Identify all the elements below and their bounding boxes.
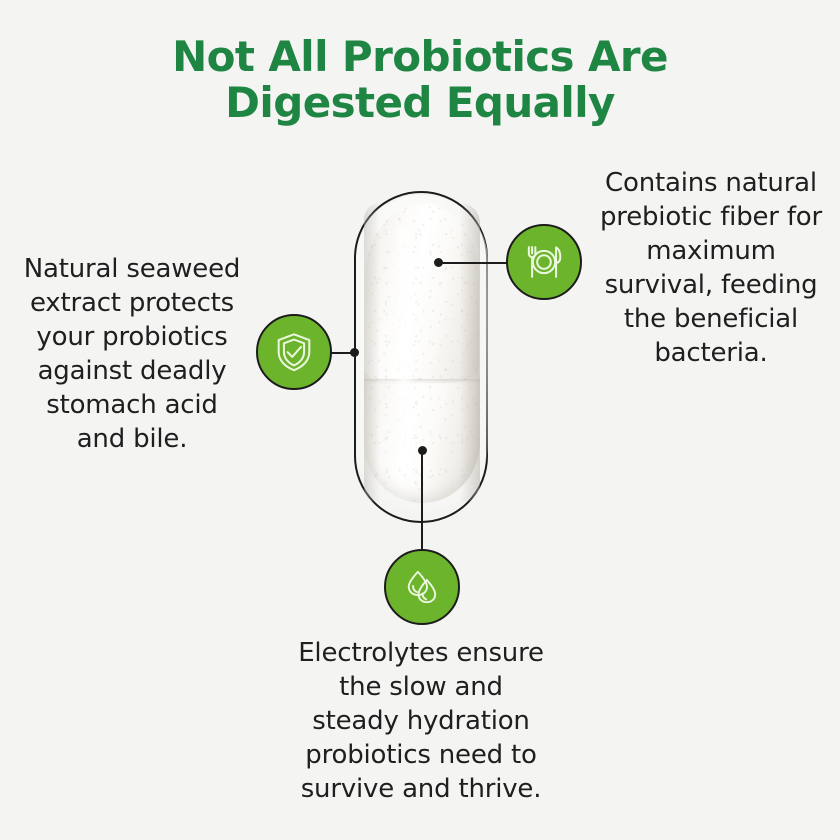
callout-electrolytes-line-1: Electrolytes ensure	[274, 636, 568, 670]
connector-dot-fiber	[434, 258, 443, 267]
badge-electrolytes	[384, 549, 460, 625]
callout-electrolytes-line-4: probiotics need to	[274, 738, 568, 772]
connector-dot-electrolytes	[418, 446, 427, 455]
callout-fiber-line-6: bacteria.	[588, 336, 834, 370]
callout-fiber-line-4: survival, feeding	[588, 268, 834, 302]
callout-seaweed: Natural seaweed extract protects your pr…	[8, 252, 256, 456]
callout-seaweed-line-3: your probiotics	[8, 320, 256, 354]
page-title: Not All Probiotics Are Digested Equally	[0, 34, 840, 126]
capsule-highlight	[394, 225, 416, 475]
infographic-canvas: Not All Probiotics Are Digested Equally	[0, 0, 840, 840]
capsule-left-shading	[364, 203, 380, 503]
callout-electrolytes: Electrolytes ensure the slow and steady …	[274, 636, 568, 806]
capsule-right-shading	[460, 203, 480, 503]
callout-electrolytes-line-5: survive and thrive.	[274, 772, 568, 806]
callout-electrolytes-line-2: the slow and	[274, 670, 568, 704]
callout-fiber-line-5: the beneficial	[588, 302, 834, 336]
callout-prebiotic-fiber: Contains natural prebiotic fiber for max…	[588, 166, 834, 370]
callout-fiber-line-2: prebiotic fiber for	[588, 200, 834, 234]
title-line-1: Not All Probiotics Are	[0, 34, 840, 80]
callout-seaweed-line-6: and bile.	[8, 422, 256, 456]
callout-seaweed-line-2: extract protects	[8, 286, 256, 320]
title-line-2: Digested Equally	[0, 80, 840, 126]
shield-check-icon	[271, 329, 317, 375]
callout-electrolytes-line-3: steady hydration	[274, 704, 568, 738]
callout-fiber-line-1: Contains natural	[588, 166, 834, 200]
callout-seaweed-line-4: against deadly	[8, 354, 256, 388]
connector-dot-seaweed	[350, 348, 359, 357]
water-droplets-icon	[400, 565, 444, 609]
badge-prebiotic-fiber	[506, 224, 582, 300]
callout-fiber-line-3: maximum	[588, 234, 834, 268]
plate-fork-knife-icon	[521, 239, 567, 285]
callout-seaweed-line-5: stomach acid	[8, 388, 256, 422]
badge-seaweed-protection	[256, 314, 332, 390]
callout-seaweed-line-1: Natural seaweed	[8, 252, 256, 286]
